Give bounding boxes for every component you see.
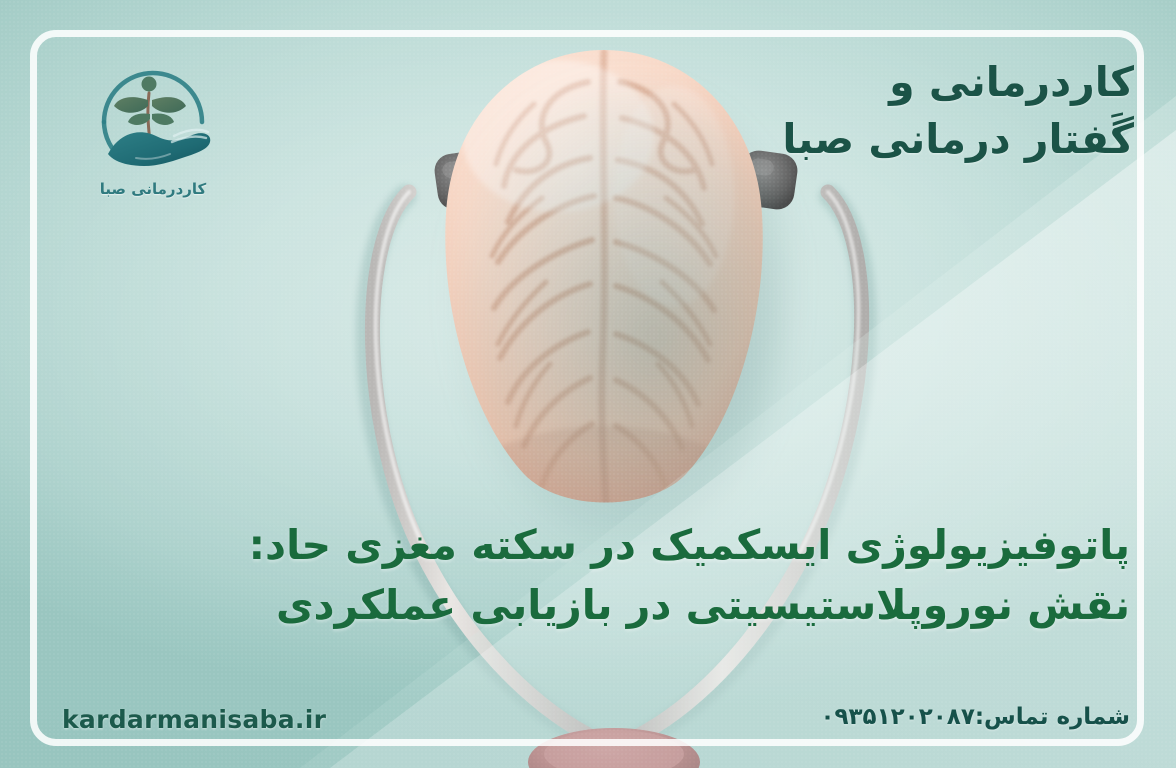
- brand-logo[interactable]: کاردرمانی صبا: [78, 62, 228, 212]
- phone-number[interactable]: شماره تماس:۰۹۳۵۱۲۰۲۰۸۷: [820, 704, 1130, 730]
- logo-caption: کاردرمانی صبا: [78, 180, 228, 198]
- brand-line-2: گَفتار درمانی صبا: [674, 111, 1134, 168]
- title-line-1: پاتوفیزیولوژی ایسکمیک در سکته مغزی حاد:: [90, 516, 1130, 576]
- brand-line-1: کاردرمانی و: [674, 54, 1134, 111]
- page-title: پاتوفیزیولوژی ایسکمیک در سکته مغزی حاد: …: [90, 516, 1130, 636]
- brand-headline: کاردرمانی و گَفتار درمانی صبا: [674, 54, 1134, 167]
- title-line-2: نقش نوروپلاستیسیتی در بازیابی عملکردی: [90, 576, 1130, 636]
- hand-holding-plant-icon: [78, 62, 228, 184]
- website-url[interactable]: kardarmanisaba.ir: [62, 705, 326, 734]
- promotional-banner: کاردرمانی صبا کاردرمانی و گَفتار درمانی …: [0, 0, 1176, 768]
